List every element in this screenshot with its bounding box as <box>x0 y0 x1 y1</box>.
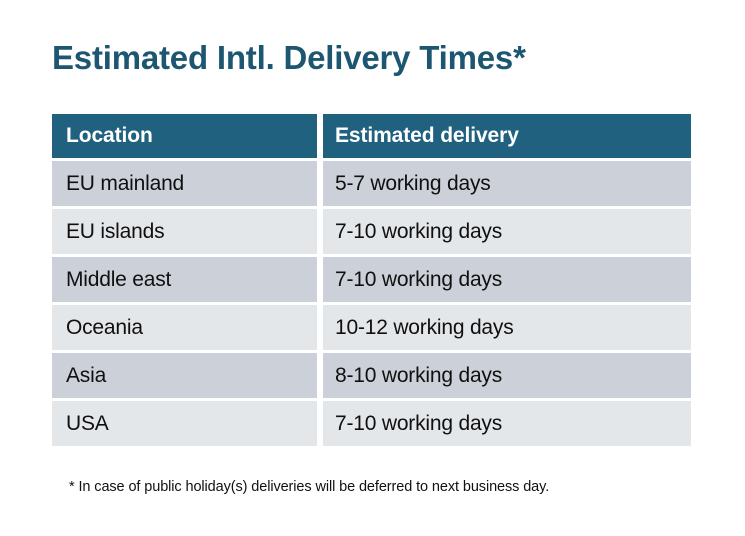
table-row: Middle east 7-10 working days <box>52 257 691 302</box>
cell-delivery: 7-10 working days <box>323 209 691 254</box>
column-header-location: Location <box>52 114 317 158</box>
cell-delivery: 7-10 working days <box>323 401 691 446</box>
table-row: EU mainland 5-7 working days <box>52 161 691 206</box>
cell-delivery: 8-10 working days <box>323 353 691 398</box>
table-header-row: Location Estimated delivery <box>52 114 691 158</box>
cell-location: EU islands <box>52 209 317 254</box>
cell-delivery: 7-10 working days <box>323 257 691 302</box>
cell-location: EU mainland <box>52 161 317 206</box>
table-row: USA 7-10 working days <box>52 401 691 446</box>
cell-delivery: 5-7 working days <box>323 161 691 206</box>
cell-delivery: 10-12 working days <box>323 305 691 350</box>
footnote-text: * In case of public holiday(s) deliverie… <box>69 479 549 495</box>
cell-location: Oceania <box>52 305 317 350</box>
page-title: Estimated Intl. Delivery Times* <box>52 38 526 78</box>
delivery-times-table: Location Estimated delivery EU mainland … <box>52 114 691 449</box>
delivery-times-page: Estimated Intl. Delivery Times* Location… <box>0 0 745 536</box>
table-row: Oceania 10-12 working days <box>52 305 691 350</box>
column-header-estimated-delivery: Estimated delivery <box>323 114 691 158</box>
table-row: EU islands 7-10 working days <box>52 209 691 254</box>
cell-location: Middle east <box>52 257 317 302</box>
cell-location: Asia <box>52 353 317 398</box>
table-row: Asia 8-10 working days <box>52 353 691 398</box>
cell-location: USA <box>52 401 317 446</box>
